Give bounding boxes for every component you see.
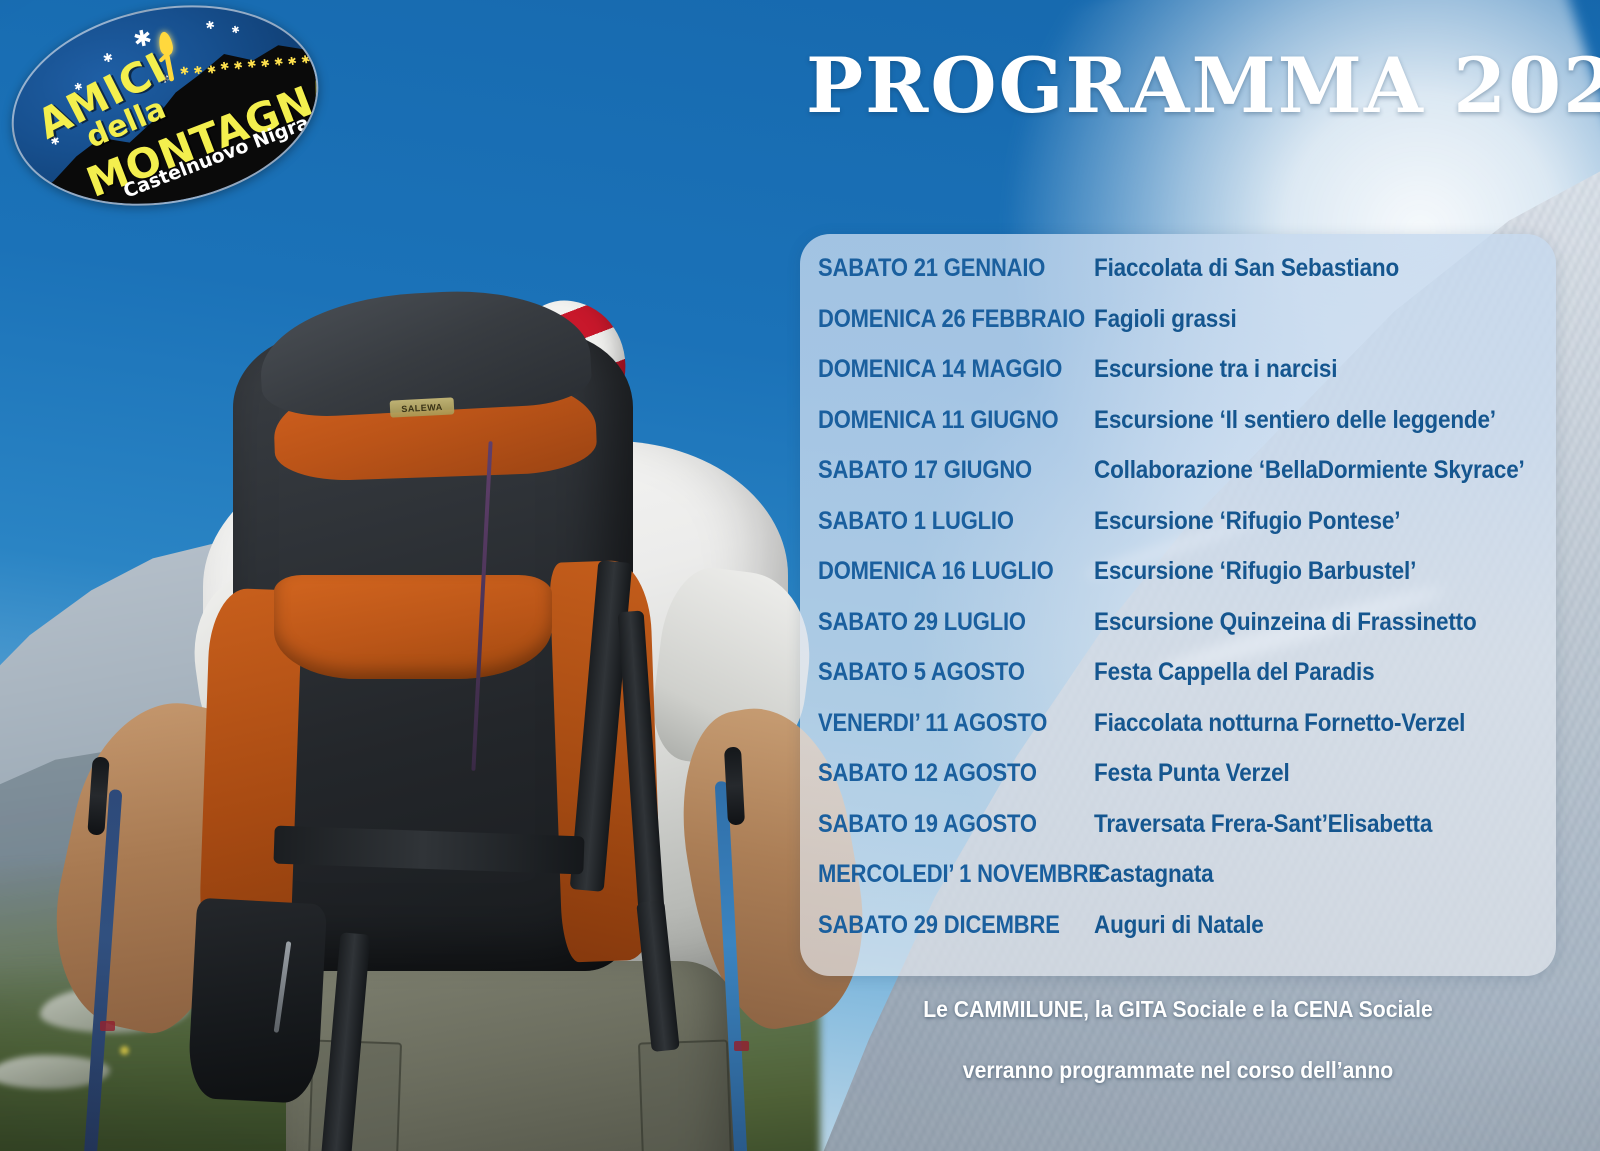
schedule-event: Escursione ‘Rifugio Barbustel’ [1094,557,1416,586]
schedule-list: SABATO 21 GENNAIOFiaccolata di San Sebas… [818,254,1546,961]
schedule-row: MERCOLEDI’ 1 NOVEMBRECastagnata [818,860,1546,911]
schedule-row: SABATO 17 GIUGNOCollaborazione ‘BellaDor… [818,456,1546,507]
schedule-event: Escursione tra i narcisi [1094,355,1337,384]
schedule-date: SABATO 17 GIUGNO [818,456,1061,485]
schedule-panel: SABATO 21 GENNAIOFiaccolata di San Sebas… [800,234,1556,976]
footer-line-2: verranno programmate nel corso dell’anno [830,1059,1526,1082]
schedule-event: Fiaccolata notturna Fornetto-Verzel [1094,709,1465,738]
schedule-event: Fiaccolata di San Sebastiano [1094,254,1399,283]
schedule-date: DOMENICA 26 FEBBRAIO [818,305,1061,334]
schedule-row: SABATO 1 LUGLIOEscursione ‘Rifugio Ponte… [818,507,1546,558]
poster: SALEWA ✱ ✱ ✱ ✱ ✱ ✱ [0,0,1600,1151]
schedule-date: SABATO 19 AGOSTO [818,810,1061,839]
schedule-date: DOMENICA 11 GIUGNO [818,406,1061,435]
page-title: PROGRAMMA 2023 [806,48,1600,124]
schedule-date: VENERDI’ 11 AGOSTO [818,709,1061,738]
schedule-date: SABATO 5 AGOSTO [818,658,1061,687]
schedule-row: SABATO 5 AGOSTOFesta Cappella del Paradi… [818,658,1546,709]
schedule-event: Escursione ‘Il sentiero delle leggende’ [1094,406,1496,435]
schedule-event: Festa Punta Verzel [1094,759,1290,788]
schedule-event: Auguri di Natale [1094,911,1264,940]
schedule-date: SABATO 1 LUGLIO [818,507,1061,536]
schedule-row: DOMENICA 14 MAGGIOEscursione tra i narci… [818,355,1546,406]
star-icon: ✱ [231,25,241,36]
schedule-row: SABATO 29 DICEMBREAuguri di Natale [818,911,1546,962]
schedule-row: SABATO 12 AGOSTOFesta Punta Verzel [818,759,1546,810]
schedule-date: SABATO 21 GENNAIO [818,254,1061,283]
schedule-row: DOMENICA 11 GIUGNOEscursione ‘Il sentier… [818,406,1546,457]
schedule-row: SABATO 19 AGOSTOTraversata Frera-Sant’El… [818,810,1546,861]
schedule-row: SABATO 29 LUGLIOEscursione Quinzeina di … [818,608,1546,659]
schedule-date: DOMENICA 16 LUGLIO [818,557,1061,586]
schedule-event: Festa Cappella del Paradis [1094,658,1374,687]
schedule-event: Escursione Quinzeina di Frassinetto [1094,608,1477,637]
schedule-event: Escursione ‘Rifugio Pontese’ [1094,507,1400,536]
schedule-row: SABATO 21 GENNAIOFiaccolata di San Sebas… [818,254,1546,305]
footer-line-1: Le CAMMILUNE, la GITA Sociale e la CENA … [830,998,1526,1021]
footer-note: Le CAMMILUNE, la GITA Sociale e la CENA … [800,998,1556,1082]
schedule-event: Castagnata [1094,860,1214,889]
schedule-event: Traversata Frera-Sant’Elisabetta [1094,810,1432,839]
schedule-event: Fagioli grassi [1094,305,1237,334]
schedule-event: Collaborazione ‘BellaDormiente Skyrace’ [1094,456,1525,485]
schedule-row: VENERDI’ 11 AGOSTOFiaccolata notturna Fo… [818,709,1546,760]
schedule-date: SABATO 29 DICEMBRE [818,911,1061,940]
schedule-date: DOMENICA 14 MAGGIO [818,355,1061,384]
schedule-row: DOMENICA 26 FEBBRAIOFagioli grassi [818,305,1546,356]
schedule-date: MERCOLEDI’ 1 NOVEMBRE [818,860,1061,889]
schedule-row: DOMENICA 16 LUGLIOEscursione ‘Rifugio Ba… [818,557,1546,608]
schedule-date: SABATO 29 LUGLIO [818,608,1061,637]
schedule-date: SABATO 12 AGOSTO [818,759,1061,788]
star-icon: ✱ [205,20,216,33]
